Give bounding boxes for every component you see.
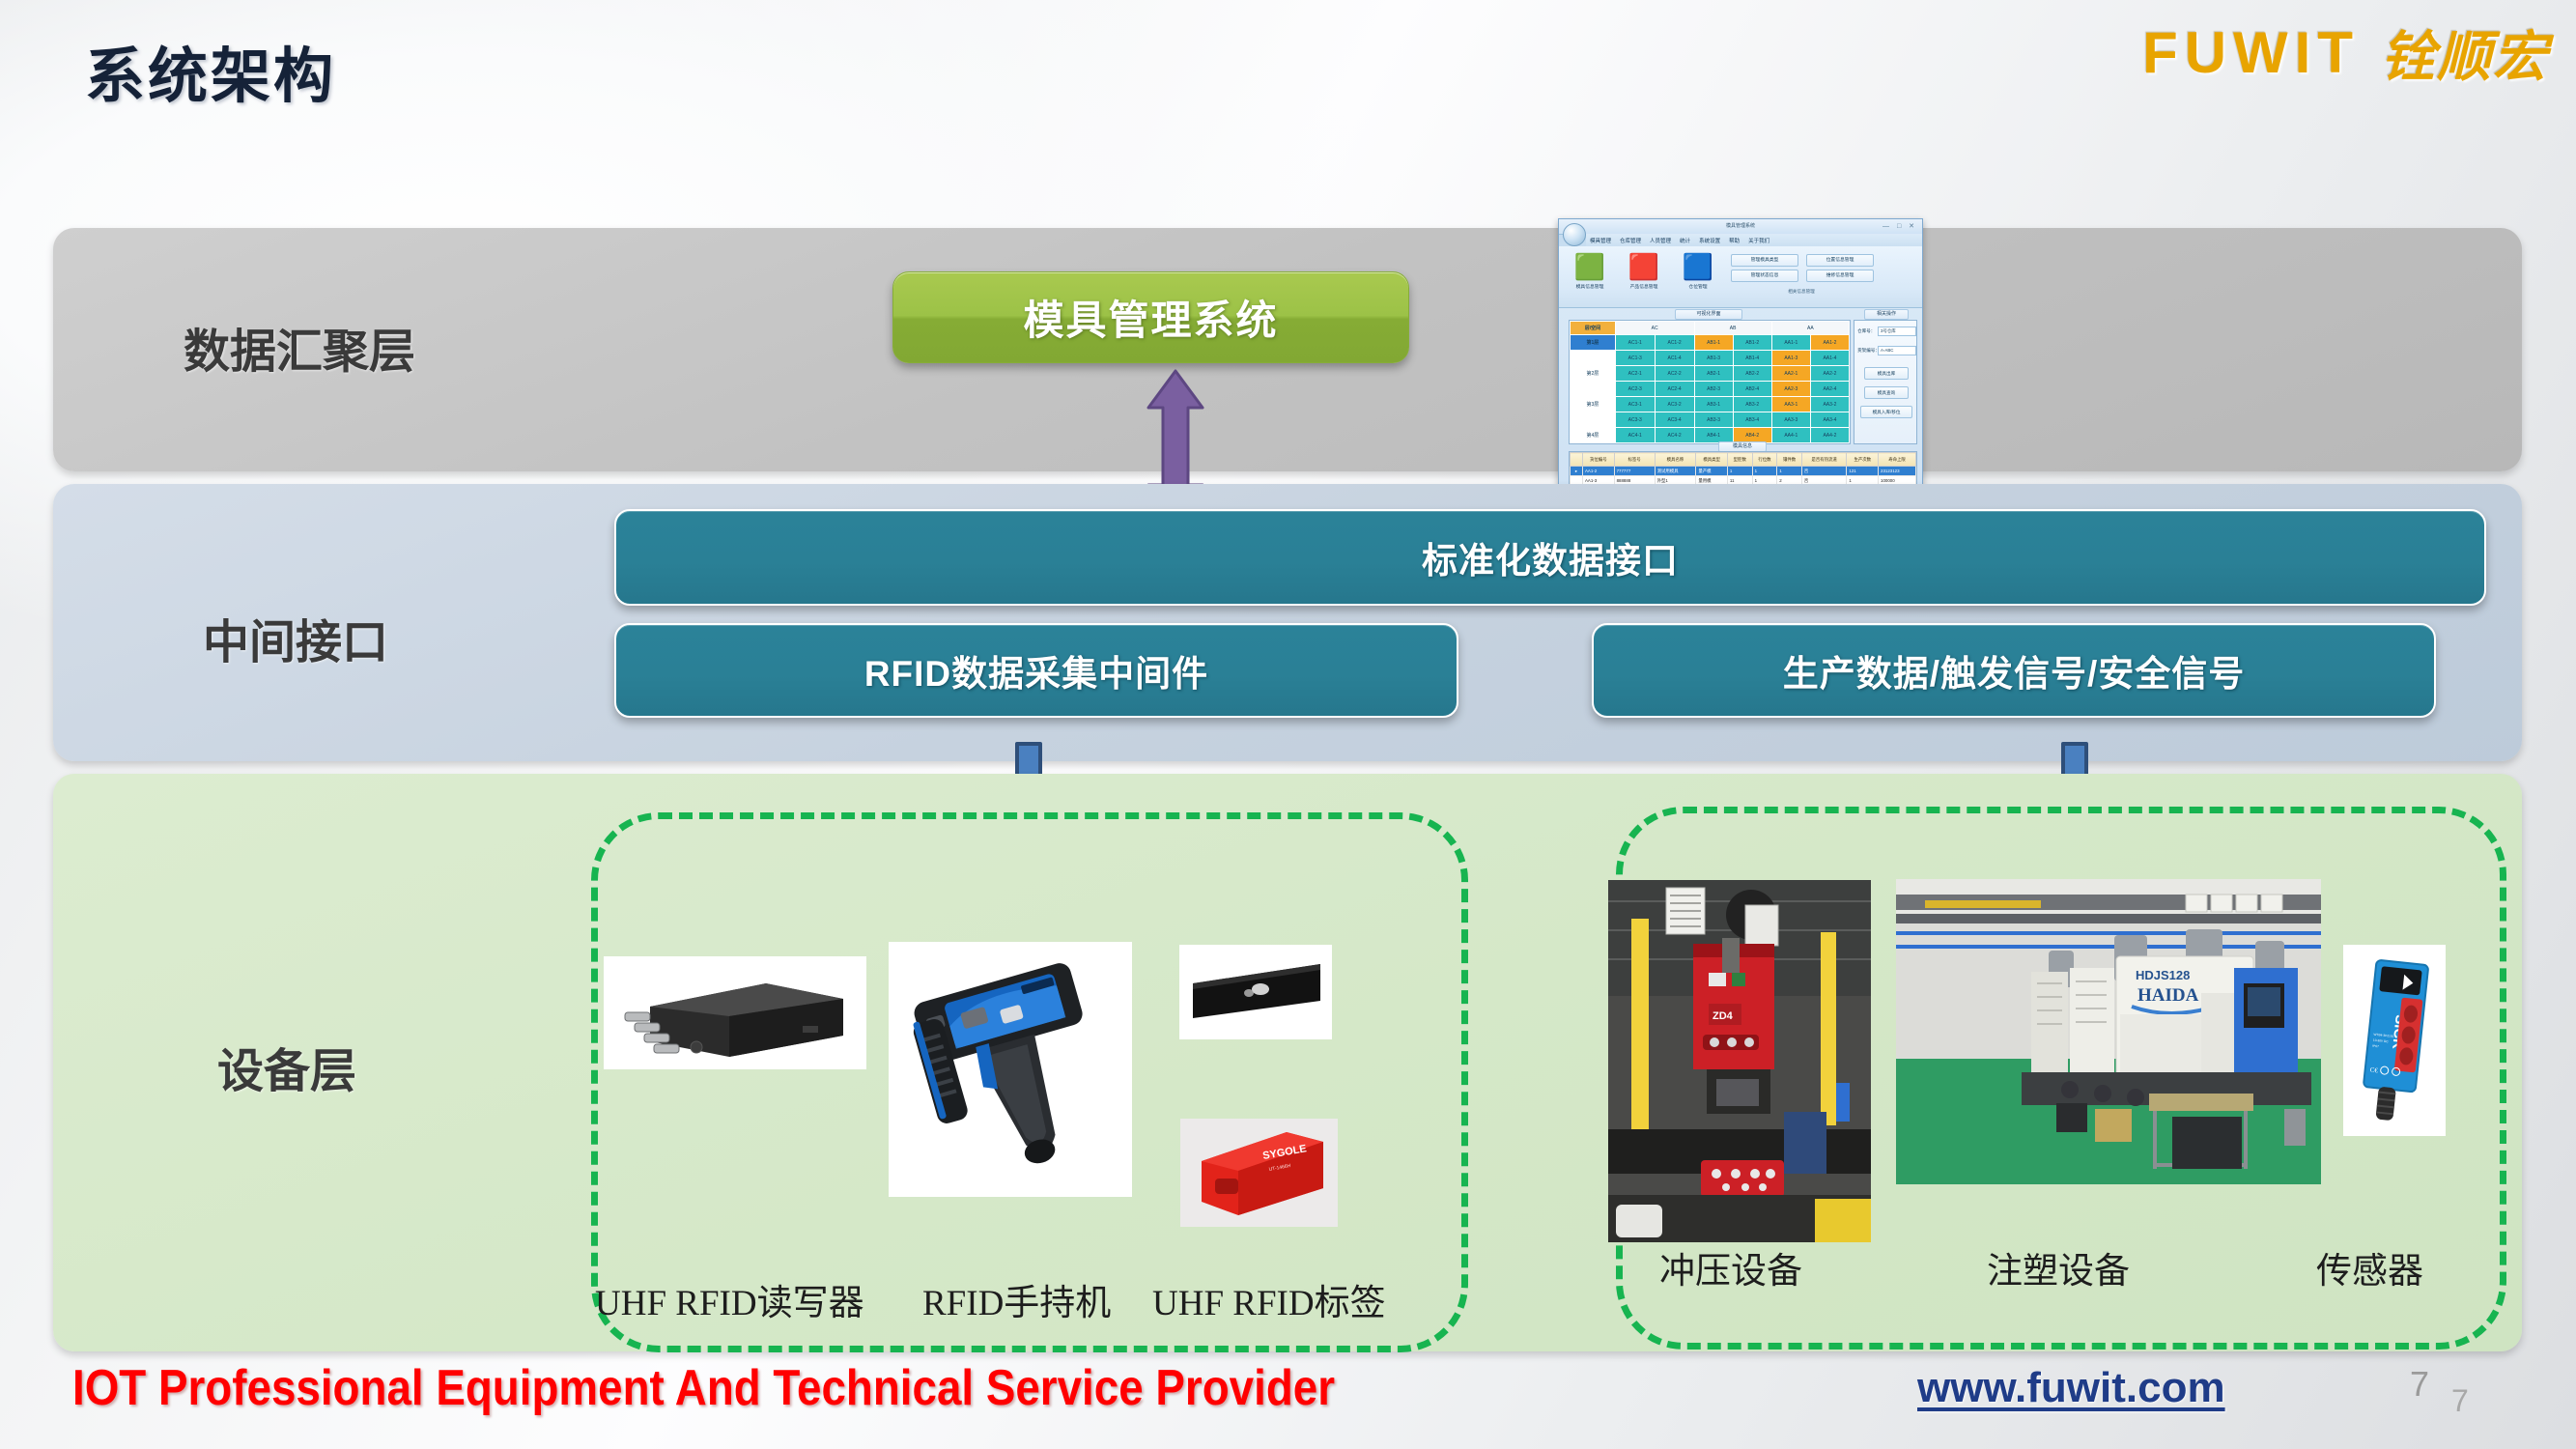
software-operations-panel: 仓库号： 3号仓库 货架编号： A-ABC 模具出库 模具查询 模具入库/移位 <box>1854 320 1917 444</box>
ribbon-group-mold-info[interactable]: 🟩 模具信息管理 <box>1565 250 1615 290</box>
software-menu-item-4[interactable]: 系统设置 <box>1699 237 1720 244</box>
software-storage-grid[interactable]: 层\空间 AC AB AA 第1层AC1-1AC1-2AB1-1AB1-2AA1… <box>1569 320 1851 444</box>
slot-select[interactable]: A-ABC <box>1878 346 1916 355</box>
ribbon-group-product-info-label: 产品信息管理 <box>1619 283 1669 290</box>
ribbon-group-mold-info-label: 模具信息管理 <box>1565 283 1615 290</box>
software-titlebar: 模具管理系统 — □ ✕ <box>1559 219 1922 235</box>
storage-grid-cell[interactable]: AA3-1 <box>1771 397 1810 412</box>
storage-grid-row: 第3层AC3-1AC3-2AB3-1AB3-2AA3-1AA3-2 <box>1571 397 1850 412</box>
mold-table-cell: 23123123 <box>1879 467 1916 476</box>
svg-text:IP67: IP67 <box>2372 1044 2379 1049</box>
storage-grid-table: 层\空间 AC AB AA 第1层AC1-1AC1-2AB1-1AB1-2AA1… <box>1570 321 1850 443</box>
software-app-orb-icon[interactable] <box>1563 223 1586 246</box>
uhf-rfid-tag-caption: UHF RFID标签 <box>1152 1273 1386 1325</box>
storage-grid-cell[interactable]: AA2-3 <box>1771 382 1810 397</box>
standardized-data-interface-box[interactable]: 标准化数据接口 <box>614 509 2486 606</box>
storage-grid-row: 第1层AC1-1AC1-2AB1-1AB1-2AA1-1AA1-2 <box>1571 335 1850 351</box>
mold-table-row[interactable]: ▸AA1-2777777测试用模具量产模111否12123123123 <box>1571 467 1916 476</box>
uhf-rfid-reader-caption: UHF RFID读写器 <box>595 1273 864 1325</box>
storage-grid-cell[interactable]: AA3-2 <box>1810 397 1849 412</box>
software-menu-item-6[interactable]: 关于我们 <box>1748 237 1769 244</box>
mold-table-column-header[interactable]: 型腔数 <box>1727 453 1752 467</box>
green-cube-icon: 🟩 <box>1565 250 1615 283</box>
software-menubar[interactable]: 模具管理 仓库管理 人员管理 统计 系统设置 帮助 关于我们 <box>1586 234 1923 247</box>
software-window-title: 模具管理系统 <box>1726 222 1755 229</box>
mold-management-system-button[interactable]: 模具管理系统 <box>892 271 1409 363</box>
standardized-data-interface-label: 标准化数据接口 <box>1422 531 1679 583</box>
software-menu-item-3[interactable]: 统计 <box>1680 237 1690 244</box>
storage-grid-cell[interactable]: AB3-1 <box>1694 397 1733 412</box>
mold-table-column-header[interactable]: 行位数 <box>1752 453 1777 467</box>
storage-grid-cell[interactable]: AB2-3 <box>1694 382 1733 397</box>
storage-grid-cell[interactable]: AB3-4 <box>1733 412 1771 428</box>
stamping-equipment-photo: ZD4 <box>1608 880 1871 1242</box>
ribbon-group-slot-mgmt[interactable]: 🟦 仓位管理 <box>1673 250 1723 290</box>
mold-table-column-header[interactable]: 是否有热流道 <box>1801 453 1847 467</box>
storage-grid-row: 第4层AC4-1AC4-2AB4-1AB4-2AA4-1AA4-2 <box>1571 428 1850 443</box>
production-signal-label: 生产数据/触发信号/安全信号 <box>1783 644 2246 696</box>
software-menu-item-2[interactable]: 人员管理 <box>1650 237 1671 244</box>
slide-footer: IOT Professional Equipment And Technical… <box>0 1343 2576 1449</box>
software-mold-table[interactable]: 货位编号标签号模具名称模具类型型腔数行位数镶件数是否有热流道生产次数寿命上限 ▸… <box>1569 451 1917 488</box>
storage-grid-cell[interactable]: AC1-1 <box>1615 335 1655 351</box>
storage-grid-cell[interactable]: AB2-1 <box>1694 366 1733 382</box>
svg-text:C€: C€ <box>2369 1066 2378 1075</box>
mold-table-column-header[interactable]: 货位编号 <box>1583 453 1615 467</box>
storage-grid-cell[interactable]: AC2-3 <box>1615 382 1655 397</box>
mold-table-row-marker-header <box>1571 453 1583 467</box>
data-aggregation-layer-title: 数据汇聚层 <box>184 313 415 381</box>
ribbon-group-slot-mgmt-label: 仓位管理 <box>1673 283 1723 290</box>
brand-logo: FUWIT 铨顺宏 <box>2142 14 2549 92</box>
footer-tagline: IOT Professional Equipment And Technical… <box>72 1359 1335 1417</box>
storage-grid-cell[interactable]: AC2-1 <box>1615 366 1655 382</box>
storage-grid-cell[interactable]: AA1-4 <box>1810 351 1849 366</box>
storage-grid-cell[interactable]: AA3-4 <box>1810 412 1849 428</box>
storage-grid-row-label: 第1层 <box>1571 335 1616 351</box>
storage-grid-cell[interactable]: AA1-3 <box>1771 351 1810 366</box>
storage-grid-col-ab: AB <box>1694 322 1771 335</box>
mold-checkout-button[interactable]: 模具出库 <box>1864 367 1909 380</box>
storage-grid-cell[interactable]: AB2-2 <box>1733 366 1771 382</box>
storage-grid-cell[interactable]: AC2-4 <box>1655 382 1694 397</box>
software-grid-panel-header: 可视化界面 <box>1675 309 1742 320</box>
storage-grid-cell[interactable]: AC3-1 <box>1615 397 1655 412</box>
storage-grid-col-ac: AC <box>1615 322 1694 335</box>
svg-text:ZD4: ZD4 <box>1713 1010 1734 1022</box>
storage-grid-cell[interactable]: AC3-2 <box>1655 397 1694 412</box>
injection-molding-photo: HDJS128 HAIDA <box>1896 879 2321 1184</box>
mold-management-system-label: 模具管理系统 <box>1023 288 1278 347</box>
svg-text:HDJS128: HDJS128 <box>2136 968 2190 982</box>
ribbon-button-manage-status-info[interactable]: 管理状态信息 <box>1731 270 1798 282</box>
uhf-rfid-tag-photo <box>1179 945 1332 1039</box>
red-rfid-tag-photo: SYGOLE UT-1466H <box>1180 1119 1338 1227</box>
mold-table-column-header[interactable]: 模具名称 <box>1655 453 1696 467</box>
storage-grid-cell[interactable]: AB1-1 <box>1694 335 1733 351</box>
storage-grid-row-label <box>1571 382 1616 397</box>
storage-grid-cell[interactable]: AC4-1 <box>1615 428 1655 443</box>
storage-grid-cell[interactable]: AB1-2 <box>1733 335 1771 351</box>
warehouse-select[interactable]: 3号仓库 <box>1878 327 1916 336</box>
storage-grid-row: 第2层AC2-1AC2-2AB2-1AB2-2AA2-1AA2-2 <box>1571 366 1850 382</box>
storage-grid-corner: 层\空间 <box>1571 322 1616 335</box>
storage-grid-cell[interactable]: AB3-3 <box>1694 412 1733 428</box>
software-menu-item-0[interactable]: 模具管理 <box>1590 237 1611 244</box>
svg-text:HAIDA: HAIDA <box>2137 985 2199 1006</box>
ribbon-button-maintenance-info[interactable]: 维修信息管理 <box>1806 270 1874 282</box>
mold-table-column-header[interactable]: 模具类型 <box>1696 453 1728 467</box>
page-number-primary: 7 <box>2410 1364 2429 1405</box>
storage-grid-row-label: 第4层 <box>1571 428 1616 443</box>
storage-grid-cell[interactable]: AC4-2 <box>1655 428 1694 443</box>
page-title: 系统架构 <box>85 27 336 114</box>
ribbon-button-manage-mold-type[interactable]: 管理模具类型 <box>1731 254 1798 267</box>
uhf-rfid-reader-photo <box>604 956 866 1069</box>
sensor-caption: 传感器 <box>2316 1241 2423 1293</box>
mold-table-cell: 1 <box>1727 467 1752 476</box>
ribbon-button-location-info[interactable]: 位置信息管理 <box>1806 254 1874 267</box>
slide-header: 系统架构 FUWIT 铨顺宏 <box>0 0 2576 135</box>
mold-table-cell: 1 <box>1752 467 1777 476</box>
red-stack-icon: 🟥 <box>1619 250 1669 283</box>
stamping-equipment-caption: 冲压设备 <box>1659 1241 1802 1293</box>
storage-grid-row: AC3-3AC3-4AB3-3AB3-4AA3-3AA3-4 <box>1571 412 1850 428</box>
middle-interface-layer-title: 中间接口 <box>203 604 388 671</box>
storage-grid-cell[interactable]: AC1-3 <box>1615 351 1655 366</box>
storage-grid-row-label <box>1571 351 1616 366</box>
storage-grid-header-row: 层\空间 AC AB AA <box>1571 322 1850 335</box>
ribbon-group-product-info[interactable]: 🟥 产品信息管理 <box>1619 250 1669 290</box>
mold-table-column-header[interactable]: 寿命上限 <box>1879 453 1916 467</box>
production-signal-box[interactable]: 生产数据/触发信号/安全信号 <box>1592 623 2436 718</box>
storage-grid-cell[interactable]: AA4-1 <box>1771 428 1810 443</box>
storage-grid-row-label: 第2层 <box>1571 366 1616 382</box>
mold-checkin-move-button[interactable]: 模具入库/移位 <box>1860 406 1912 418</box>
ribbon-section-label: 相关信息管理 <box>1731 289 1872 295</box>
brand-logo-english: FUWIT <box>2142 19 2360 86</box>
warehouse-field-label: 仓库号： <box>1857 328 1875 334</box>
mold-query-button[interactable]: 模具查询 <box>1864 386 1909 399</box>
storage-grid-cell[interactable]: AB1-3 <box>1694 351 1733 366</box>
storage-grid-cell[interactable]: AA4-2 <box>1810 428 1849 443</box>
software-ribbon: 🟩 模具信息管理 🟥 产品信息管理 🟦 仓位管理 管理模具类型 位置信息管理 管… <box>1559 246 1922 308</box>
injection-molding-caption: 注塑设备 <box>1987 1241 2130 1293</box>
sensor-photo: SICK WTB4-3P2161 10-30V DC IP67 C€ <box>2343 945 2446 1136</box>
storage-grid-row-label: 第3层 <box>1571 397 1616 412</box>
mold-table-cell: 测试用模具 <box>1655 467 1696 476</box>
mold-table-cell: 量产模 <box>1696 467 1728 476</box>
software-menu-item-5[interactable]: 帮助 <box>1729 237 1740 244</box>
mold-table-cell: 否 <box>1801 467 1847 476</box>
storage-grid-cell[interactable]: AA1-2 <box>1810 335 1849 351</box>
rfid-data-middleware-label: RFID数据采集中间件 <box>864 644 1208 696</box>
rfid-data-middleware-box[interactable]: RFID数据采集中间件 <box>614 623 1458 718</box>
storage-grid-cell[interactable]: AA2-2 <box>1810 366 1849 382</box>
storage-grid-cell[interactable]: AA2-4 <box>1810 382 1849 397</box>
mold-table-column-header[interactable]: 生产次数 <box>1847 453 1879 467</box>
mold-table-cell: 777777 <box>1614 467 1655 476</box>
software-window-buttons[interactable]: — □ ✕ <box>1882 222 1917 230</box>
storage-grid-col-aa: AA <box>1771 322 1849 335</box>
storage-grid-cell[interactable]: AB3-2 <box>1733 397 1771 412</box>
software-ops-panel-header: 相关操作 <box>1864 309 1909 320</box>
mold-table-row-marker: ▸ <box>1571 467 1583 476</box>
mold-table-cell: 1 <box>1777 467 1802 476</box>
mold-table-cell: 121 <box>1847 467 1879 476</box>
brand-logo-chinese: 铨顺宏 <box>2381 14 2549 92</box>
storage-grid-cell[interactable]: AA3-3 <box>1771 412 1810 428</box>
blue-layers-icon: 🟦 <box>1673 250 1723 283</box>
storage-grid-cell[interactable]: AC2-2 <box>1655 366 1694 382</box>
storage-grid-cell[interactable]: AB1-4 <box>1733 351 1771 366</box>
mold-table-column-header[interactable]: 标签号 <box>1614 453 1655 467</box>
footer-website-link[interactable]: www.fuwit.com <box>1917 1364 2225 1412</box>
software-menu-item-1[interactable]: 仓库管理 <box>1620 237 1641 244</box>
page-number-secondary: 7 <box>2451 1383 2469 1419</box>
rfid-handheld-photo <box>889 942 1132 1197</box>
storage-grid-cell[interactable]: AC3-3 <box>1615 412 1655 428</box>
storage-grid-body: 第1层AC1-1AC1-2AB1-1AB1-2AA1-1AA1-2AC1-3AC… <box>1571 335 1850 443</box>
mold-table: 货位编号标签号模具名称模具类型型腔数行位数镶件数是否有热流道生产次数寿命上限 ▸… <box>1570 452 1916 488</box>
storage-grid-cell[interactable]: AC1-4 <box>1655 351 1694 366</box>
storage-grid-row: AC2-3AC2-4AB2-3AB2-4AA2-3AA2-4 <box>1571 382 1850 397</box>
slot-field-label: 货架编号： <box>1857 348 1880 354</box>
mold-table-column-header[interactable]: 镶件数 <box>1777 453 1802 467</box>
rfid-handheld-caption: RFID手持机 <box>922 1273 1111 1325</box>
mold-management-software-screenshot: 模具管理系统 — □ ✕ 模具管理 仓库管理 人员管理 统计 系统设置 帮助 关… <box>1558 218 1923 488</box>
storage-grid-row-label <box>1571 412 1616 428</box>
device-layer-title: 设备层 <box>217 1033 356 1100</box>
storage-grid-cell[interactable]: AA2-1 <box>1771 366 1810 382</box>
storage-grid-row: AC1-3AC1-4AB1-3AB1-4AA1-3AA1-4 <box>1571 351 1850 366</box>
mold-table-cell: AA1-2 <box>1583 467 1615 476</box>
mold-table-header-row: 货位编号标签号模具名称模具类型型腔数行位数镶件数是否有热流道生产次数寿命上限 <box>1571 453 1916 467</box>
storage-grid-cell[interactable]: AB2-4 <box>1733 382 1771 397</box>
storage-grid-cell[interactable]: AC1-2 <box>1655 335 1694 351</box>
storage-grid-cell[interactable]: AA1-1 <box>1771 335 1810 351</box>
storage-grid-cell[interactable]: AC3-4 <box>1655 412 1694 428</box>
